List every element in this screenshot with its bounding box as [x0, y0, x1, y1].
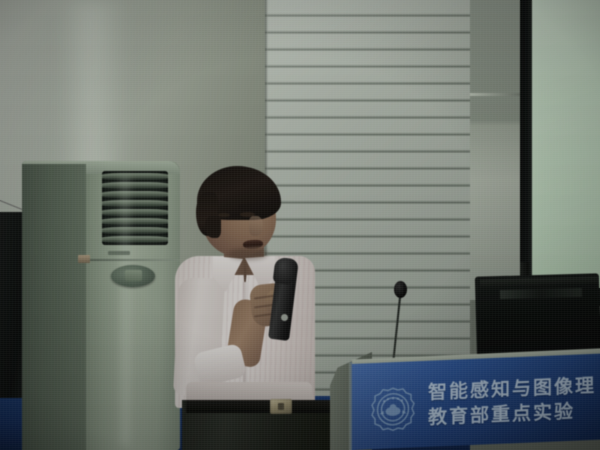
nose [249, 216, 263, 236]
photograph: 智能感知与图像理 教育部重点实验 [0, 0, 600, 450]
hair-nape [205, 216, 221, 238]
podium-banner-text: 智能感知与图像理 教育部重点实验 [428, 373, 600, 431]
microphone-grille [272, 257, 295, 285]
podium-front-panel: 智能感知与图像理 教育部重点实验 [352, 354, 600, 450]
chin-shadow [228, 248, 268, 260]
university-crest-icon [370, 385, 416, 433]
eye-left [218, 213, 230, 217]
microphone-button[interactable] [281, 314, 288, 321]
belt [186, 400, 330, 413]
gooseneck-microphone[interactable] [394, 281, 407, 298]
belt-buckle-prong [278, 403, 284, 410]
